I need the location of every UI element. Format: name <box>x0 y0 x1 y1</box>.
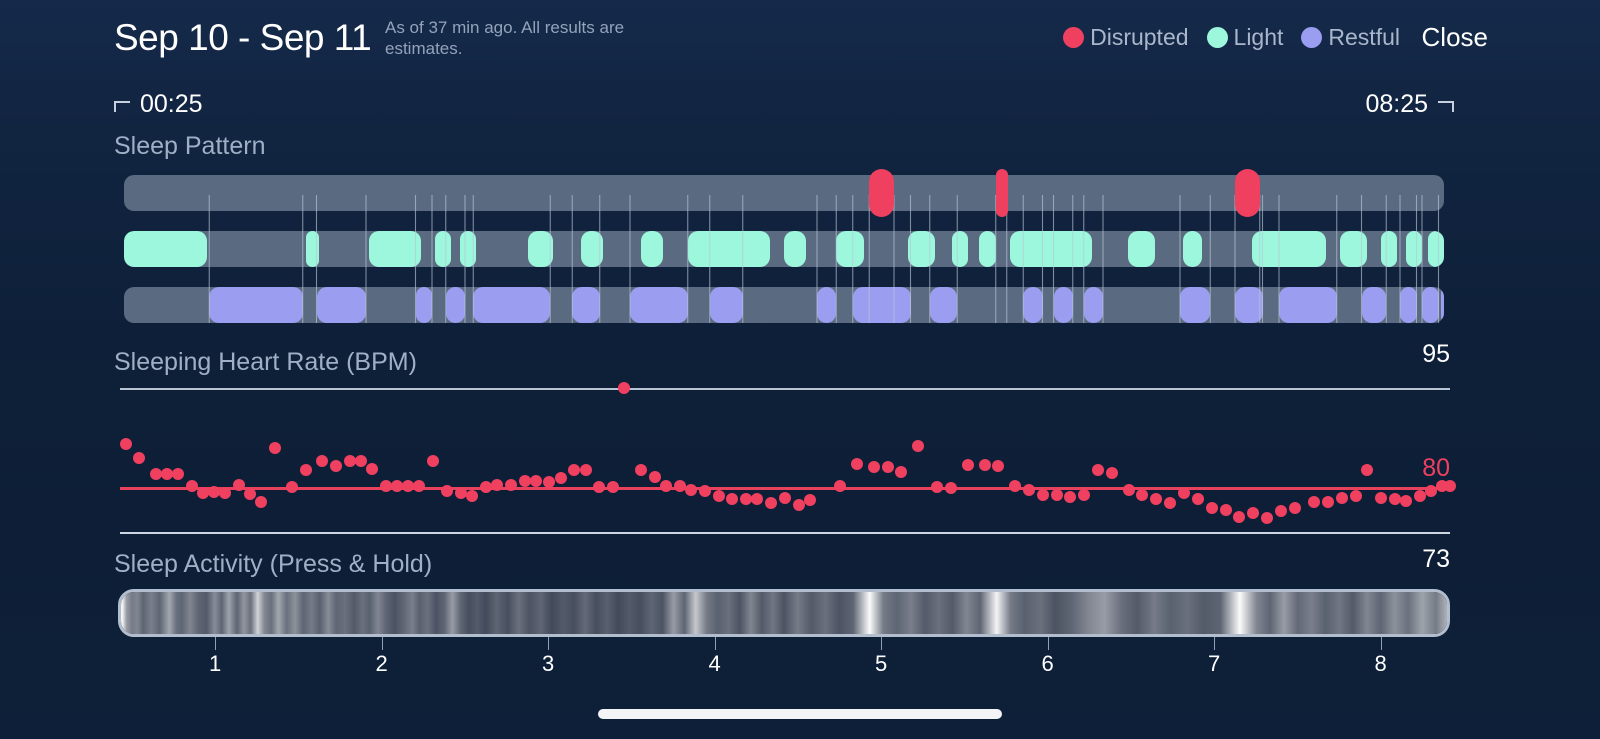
hr-data-point <box>244 488 256 500</box>
sleep-segment-light <box>306 231 320 267</box>
hr-min-label: 73 <box>1422 545 1450 574</box>
hr-data-point <box>441 485 453 497</box>
hr-data-point <box>1322 496 1334 508</box>
axis-tick-label: 4 <box>709 651 721 677</box>
activity-hour-axis: 12345678 <box>118 637 1450 677</box>
hr-data-point <box>962 459 974 471</box>
axis-tick <box>548 637 549 650</box>
legend-item-light[interactable]: Light <box>1207 24 1284 51</box>
sleep-segment-restful <box>1235 287 1263 323</box>
hr-data-point <box>519 475 531 487</box>
sleep-segment-disrupted <box>1235 169 1260 217</box>
sleep-pattern-chart[interactable] <box>124 175 1444 323</box>
hr-data-point <box>912 440 924 452</box>
hr-data-point <box>1037 489 1049 501</box>
sleep-segment-restful <box>930 287 958 323</box>
hr-data-point <box>713 490 725 502</box>
axis-tick-label: 1 <box>209 651 221 677</box>
hr-data-point <box>1289 502 1301 514</box>
sleep-segment-restful <box>1180 287 1210 323</box>
axis-tick-label: 2 <box>376 651 388 677</box>
axis-tick <box>1214 637 1215 650</box>
hr-data-point <box>726 493 738 505</box>
sleep-segment-light <box>908 231 936 267</box>
sleep-segment-restful <box>1400 287 1417 323</box>
hr-data-point <box>186 480 198 492</box>
bracket-left-icon <box>114 101 130 112</box>
sleep-segment-restful <box>1422 287 1439 323</box>
hr-data-point <box>1220 504 1232 516</box>
hr-data-point <box>286 481 298 493</box>
hr-data-point <box>1350 490 1362 502</box>
hr-max-line <box>120 388 1450 390</box>
hr-data-point <box>1123 484 1135 496</box>
hr-data-point <box>1261 512 1273 524</box>
hr-data-point <box>779 492 791 504</box>
sleep-segment-light <box>1340 231 1368 267</box>
sleep-segment-light <box>836 231 864 267</box>
sleep-segment-restful <box>209 287 303 323</box>
hr-data-point <box>834 480 846 492</box>
hr-data-point <box>1009 480 1021 492</box>
hr-data-point <box>455 487 467 499</box>
hr-data-point <box>580 464 592 476</box>
hr-data-point <box>133 452 145 464</box>
hr-data-point <box>1078 489 1090 501</box>
sleep-segment-light <box>784 231 806 267</box>
hr-data-point <box>804 494 816 506</box>
hr-data-point <box>530 475 542 487</box>
hr-data-point <box>1106 467 1118 479</box>
axis-tick <box>1048 637 1049 650</box>
track-light[interactable] <box>124 231 1444 267</box>
hr-data-point <box>674 480 686 492</box>
hr-data-point <box>427 455 439 467</box>
track-restful[interactable] <box>124 287 1444 323</box>
legend-label: Restful <box>1328 24 1400 51</box>
sleep-segment-restful <box>853 287 911 323</box>
sleep-segment-light <box>1252 231 1326 267</box>
hr-data-point <box>366 463 378 475</box>
heart-rate-chart[interactable]: 95 80 73 <box>120 388 1450 534</box>
hr-data-point <box>543 476 555 488</box>
hr-data-point <box>1247 507 1259 519</box>
hr-data-point <box>1064 491 1076 503</box>
hr-data-point <box>931 481 943 493</box>
sleep-pattern-title: Sleep Pattern <box>114 132 266 161</box>
hr-data-point <box>992 460 1004 472</box>
hr-data-point <box>1233 511 1245 523</box>
hr-data-point <box>1178 487 1190 499</box>
hr-data-point <box>868 461 880 473</box>
hr-data-point <box>172 468 184 480</box>
sleep-segment-restful <box>1362 287 1387 323</box>
sleep-segment-restful <box>1023 287 1042 323</box>
sleep-segment-restful <box>446 287 465 323</box>
axis-tick <box>215 637 216 650</box>
page-title: Sep 10 - Sep 11 <box>114 17 371 59</box>
legend: DisruptedLightRestful <box>1063 24 1400 51</box>
hr-data-point <box>1206 502 1218 514</box>
sleep-segment-light <box>979 231 996 267</box>
hr-data-point <box>316 455 328 467</box>
hr-data-point <box>882 461 894 473</box>
hr-data-point <box>685 484 697 496</box>
sleep-activity-bar-wrap[interactable] <box>118 589 1450 637</box>
heart-rate-title: Sleeping Heart Rate (BPM) <box>114 348 417 377</box>
hr-data-point <box>233 479 245 491</box>
sleep-segment-disrupted <box>869 169 894 217</box>
sleep-segment-light <box>528 231 553 267</box>
hr-data-point <box>505 479 517 491</box>
bracket-right-icon <box>1438 101 1454 112</box>
sleep-segment-restful <box>317 287 367 323</box>
sleep-segment-light <box>1381 231 1398 267</box>
hr-data-point <box>618 382 630 394</box>
hr-data-point <box>355 455 367 467</box>
hr-data-point <box>607 481 619 493</box>
start-time-label: 00:25 <box>140 90 203 119</box>
hr-data-point <box>1136 489 1148 501</box>
axis-tick-label: 7 <box>1208 651 1220 677</box>
hr-data-point <box>555 472 567 484</box>
hr-data-point <box>1092 464 1104 476</box>
axis-tick-label: 8 <box>1375 651 1387 677</box>
hr-average-line <box>120 487 1450 490</box>
hr-data-point <box>300 464 312 476</box>
axis-tick-label: 6 <box>1042 651 1054 677</box>
hr-data-point <box>1425 485 1437 497</box>
hr-data-point <box>1361 464 1373 476</box>
sleep-activity-bar[interactable] <box>118 589 1450 637</box>
sleep-segment-light <box>1183 231 1202 267</box>
hr-data-point <box>793 499 805 511</box>
hr-data-point <box>660 480 672 492</box>
axis-tick-label: 3 <box>542 651 554 677</box>
hr-data-point <box>593 481 605 493</box>
hr-data-point <box>649 471 661 483</box>
sleep-segment-light <box>1010 231 1093 267</box>
hr-data-point <box>480 481 492 493</box>
sleep-segment-restful <box>630 287 688 323</box>
hr-data-point <box>979 459 991 471</box>
hr-average-label: 80 <box>1422 454 1450 483</box>
header: Sep 10 - Sep 11 As of 37 min ago. All re… <box>0 0 1600 78</box>
activity-gradient <box>121 592 1447 634</box>
legend-dot-icon <box>1301 27 1322 48</box>
sleep-segment-restful <box>473 287 550 323</box>
legend-label: Disrupted <box>1090 24 1188 51</box>
sleep-segment-light <box>581 231 603 267</box>
legend-item-disrupted[interactable]: Disrupted <box>1063 24 1188 51</box>
sleep-segment-light <box>641 231 663 267</box>
hr-data-point <box>1414 490 1426 502</box>
hr-data-point <box>1444 480 1456 492</box>
sleep-segment-restful <box>572 287 600 323</box>
hr-data-point <box>1051 489 1063 501</box>
legend-item-restful[interactable]: Restful <box>1301 24 1400 51</box>
hr-data-point <box>1164 497 1176 509</box>
sleep-segment-restful <box>710 287 743 323</box>
hr-data-point <box>1150 493 1162 505</box>
sleep-segment-light <box>952 231 969 267</box>
sleep-segment-restful <box>1279 287 1337 323</box>
hr-data-point <box>413 480 425 492</box>
legend-label: Light <box>1234 24 1284 51</box>
legend-dot-icon <box>1207 27 1228 48</box>
axis-tick-label: 5 <box>875 651 887 677</box>
hr-data-point <box>1192 493 1204 505</box>
hr-data-point <box>1308 496 1320 508</box>
hr-data-point <box>491 479 503 491</box>
hr-max-label: 95 <box>1422 340 1450 369</box>
sleep-segment-light <box>460 231 477 267</box>
sleep-segment-light <box>435 231 452 267</box>
hr-data-point <box>255 496 267 508</box>
hr-data-point <box>751 493 763 505</box>
sleep-segment-light <box>124 231 207 267</box>
hr-data-point <box>1375 492 1387 504</box>
sleep-segment-light <box>1428 231 1445 267</box>
sleep-segment-light <box>369 231 421 267</box>
hr-data-point <box>219 487 231 499</box>
sleep-segment-restful <box>817 287 836 323</box>
sleep-segment-restful <box>1054 287 1073 323</box>
end-time-group: 08:25 <box>1365 90 1454 119</box>
hr-data-point <box>851 458 863 470</box>
hr-data-point <box>945 482 957 494</box>
axis-tick <box>382 637 383 650</box>
sleep-segment-light <box>1128 231 1156 267</box>
sleep-segment-restful <box>416 287 433 323</box>
hr-data-point <box>699 485 711 497</box>
sleep-segment-light <box>1406 231 1423 267</box>
timeline-range: 00:25 08:25 <box>114 90 1454 124</box>
hr-data-point <box>466 490 478 502</box>
hr-data-point <box>330 460 342 472</box>
close-button[interactable]: Close <box>1422 22 1488 53</box>
hr-data-point <box>635 464 647 476</box>
hr-data-point <box>1023 484 1035 496</box>
sleep-segment-restful <box>1441 287 1444 323</box>
end-time-label: 08:25 <box>1365 90 1428 119</box>
hr-data-point <box>1275 505 1287 517</box>
sleep-segment-disrupted <box>996 169 1008 217</box>
page-subtitle: As of 37 min ago. All results are estima… <box>385 17 655 59</box>
sleep-segment-light <box>688 231 771 267</box>
legend-dot-icon <box>1063 27 1084 48</box>
hr-min-line <box>120 532 1450 534</box>
hr-data-point <box>269 442 281 454</box>
start-time-group: 00:25 <box>114 90 203 119</box>
hr-data-point <box>568 464 580 476</box>
hr-data-point <box>895 466 907 478</box>
hr-data-point <box>765 497 777 509</box>
axis-tick <box>715 637 716 650</box>
hr-data-point <box>1389 493 1401 505</box>
home-indicator[interactable] <box>598 709 1002 719</box>
hr-data-point <box>120 438 132 450</box>
axis-tick <box>881 637 882 650</box>
sleep-activity-title: Sleep Activity (Press & Hold) <box>114 550 432 579</box>
hr-data-point <box>1400 495 1412 507</box>
sleep-segment-restful <box>1084 287 1103 323</box>
hr-data-point <box>1336 492 1348 504</box>
axis-tick <box>1381 637 1382 650</box>
sleep-detail-screen: Sep 10 - Sep 11 As of 37 min ago. All re… <box>0 0 1600 739</box>
